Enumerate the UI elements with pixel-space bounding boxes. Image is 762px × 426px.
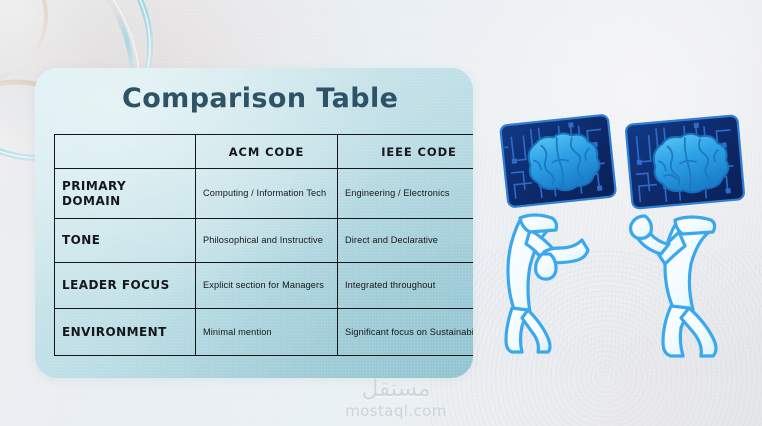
row-ieee-cell: Integrated throughout [338,263,474,309]
row-ieee-cell: Direct and Declarative [338,219,474,263]
table-row: ENVIRONMENT Minimal mention Significant … [55,309,474,356]
robot-figure-right [613,112,753,362]
row-label-cell: TONE [55,219,196,263]
row-acm-text: Philosophical and Instructive [203,234,330,246]
row-ieee-cell: Engineering / Electronics [338,169,474,219]
row-acm-cell: Minimal mention [196,309,338,356]
robot-head-left [500,115,616,208]
page-title: Comparison Table [122,83,398,114]
header-cell-ieee: IEEE CODE [338,135,474,169]
row-label-text: LEADER FOCUS [62,278,188,292]
row-ieee-cell: Significant focus on Sustainability [338,309,474,356]
robot-body-right [631,216,716,356]
row-acm-cell: Computing / Information Tech [196,169,338,219]
row-acm-text: Explicit section for Managers [203,279,330,291]
row-acm-cell: Philosophical and Instructive [196,219,338,263]
row-label-text: ENVIRONMENT [62,325,188,339]
row-label-cell: ENVIRONMENT [55,309,196,356]
row-ieee-text: Engineering / Electronics [345,187,473,199]
table-row: LEADER FOCUS Explicit section for Manage… [55,263,474,309]
row-ieee-text: Integrated throughout [345,279,473,291]
row-label-cell: PRIMARY DOMAIN [55,169,196,219]
row-ieee-text: Direct and Declarative [345,234,473,246]
header-acm-label: ACM CODE [203,145,330,159]
header-cell-blank [55,135,196,169]
header-ieee-label: IEEE CODE [345,145,473,159]
row-ieee-text: Significant focus on Sustainability [345,326,473,338]
row-acm-text: Minimal mention [203,326,330,338]
comparison-table: ACM CODE IEEE CODE PRIMARY DOMAIN Comput… [54,134,473,356]
header-cell-acm: ACM CODE [196,135,338,169]
row-acm-cell: Explicit section for Managers [196,263,338,309]
robot-body-left [506,215,588,352]
row-label-text: PRIMARY DOMAIN [62,179,188,207]
robot-figure-left [486,112,621,360]
robot-head-right [626,115,745,208]
slide-canvas: Comparison Table ACM CODE IEEE CODE PRIM… [0,0,762,426]
comparison-card: Comparison Table ACM CODE IEEE CODE PRIM… [35,68,473,378]
table-header-row: ACM CODE IEEE CODE [55,135,474,169]
row-acm-text: Computing / Information Tech [203,187,330,199]
row-label-cell: LEADER FOCUS [55,263,196,309]
row-label-text: TONE [62,233,188,247]
table-row: TONE Philosophical and Instructive Direc… [55,219,474,263]
table-row: PRIMARY DOMAIN Computing / Information T… [55,169,474,219]
